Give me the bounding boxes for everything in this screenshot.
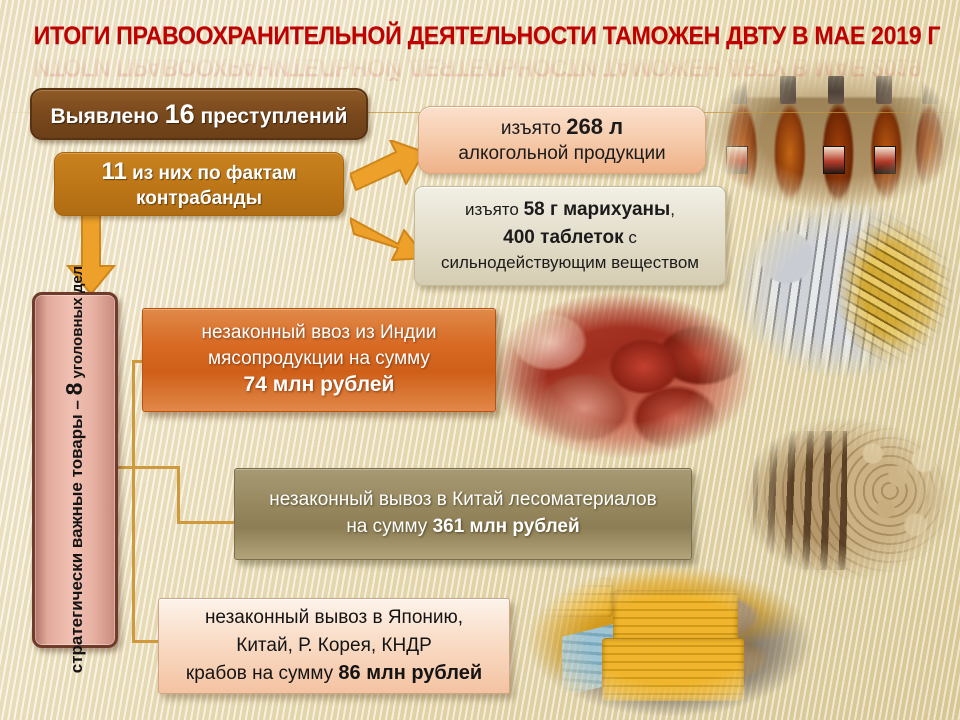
timber-logs-photo <box>740 418 954 580</box>
illegal-timber-export-box[interactable]: незаконный вывоз в Китай лесоматериалов … <box>234 468 692 560</box>
meat-line2: мясопродукции на сумму <box>151 346 487 372</box>
strategic-count: 8 <box>61 383 87 396</box>
connector-to-timber-v <box>177 466 180 524</box>
detected-count: 16 <box>165 99 195 129</box>
connector-vertical-trunk <box>132 360 135 642</box>
crab-line2: Китай, Р. Корея, КНДР <box>167 632 501 660</box>
meat-line1: незаконный ввоз из Индии <box>151 320 487 346</box>
page-title: ИТОГИ ПРАВООХРАНИТЕЛЬНОЙ ДЕЯТЕЛЬНОСТИ ТА… <box>34 22 927 51</box>
timber-line1: незаконный вывоз в Китай лесоматериалов <box>243 487 683 514</box>
crab-line1: незаконный вывоз в Японию, <box>167 604 501 632</box>
illegal-crab-export-box[interactable]: незаконный вывоз в Японию, Китай, Р. Кор… <box>158 598 510 694</box>
detected-prefix: Выявлено <box>51 105 165 128</box>
crab-line3-prefix: крабов на сумму <box>186 663 339 684</box>
drugs-line2-suffix: с <box>624 228 637 247</box>
contraband-count: 11 <box>101 158 126 185</box>
slide-title-block: ИТОГИ ПРАВООХРАНИТЕЛЬНОЙ ДЕЯТЕЛЬНОСТИ ТА… <box>0 22 960 81</box>
crab-crates-photo <box>528 566 812 716</box>
alcohol-amount: 268 л <box>566 114 623 139</box>
contraband-line2: контрабанды <box>63 187 335 211</box>
crab-amount: 86 млн рублей <box>338 662 482 684</box>
seized-alcohol-box[interactable]: изъято 268 л алкогольной продукции <box>418 106 706 174</box>
timber-line2-prefix: на сумму <box>346 516 432 537</box>
drugs-prefix: изъято <box>465 200 524 219</box>
alcohol-line2: алкогольной продукции <box>427 142 697 167</box>
connector-to-timber-h1 <box>118 466 180 469</box>
arrow-up-right-icon <box>350 140 426 192</box>
strategic-goods-box[interactable]: стратегически важные товары – 8 уголовны… <box>32 292 118 648</box>
timber-amount: 361 млн рублей <box>433 516 580 537</box>
drugs-marijuana-amount: 58 г марихуаны <box>524 199 671 220</box>
connector-to-timber-h2 <box>177 521 237 524</box>
page-title-reflection: ИТОГИ ПРАВООХРАНИТЕЛЬНОЙ ДЕЯТЕЛЬНОСТИ ТА… <box>34 52 927 81</box>
alcohol-bottles-photo <box>706 60 960 210</box>
meat-products-photo <box>492 292 754 458</box>
detected-suffix: преступлений <box>195 105 348 128</box>
illegal-meat-import-box[interactable]: незаконный ввоз из Индии мясопродукции н… <box>142 308 496 412</box>
seized-drugs-box[interactable]: изъято 58 г марихуаны, 400 таблеток с си… <box>414 186 726 286</box>
drugs-pills-amount: 400 таблеток <box>503 227 623 248</box>
slide-canvas: ИТОГИ ПРАВООХРАНИТЕЛЬНОЙ ДЕЯТЕЛЬНОСТИ ТА… <box>0 0 960 720</box>
strategic-unit: уголовных дел <box>69 266 86 383</box>
contraband-cases-box[interactable]: 11 из них по фактам контрабанды <box>54 152 344 216</box>
pill-blisters-photo <box>732 200 958 378</box>
detected-crimes-box[interactable]: Выявлено 16 преступлений <box>30 88 368 140</box>
drugs-line1-suffix: , <box>670 200 675 219</box>
contraband-line1: из них по фактам <box>127 163 297 184</box>
strategic-label: стратегически важные товары – <box>67 396 86 674</box>
meat-amount: 74 млн рублей <box>151 371 487 399</box>
drugs-line3: сильнодействующим веществом <box>423 251 717 276</box>
alcohol-prefix: изъято <box>501 118 566 139</box>
